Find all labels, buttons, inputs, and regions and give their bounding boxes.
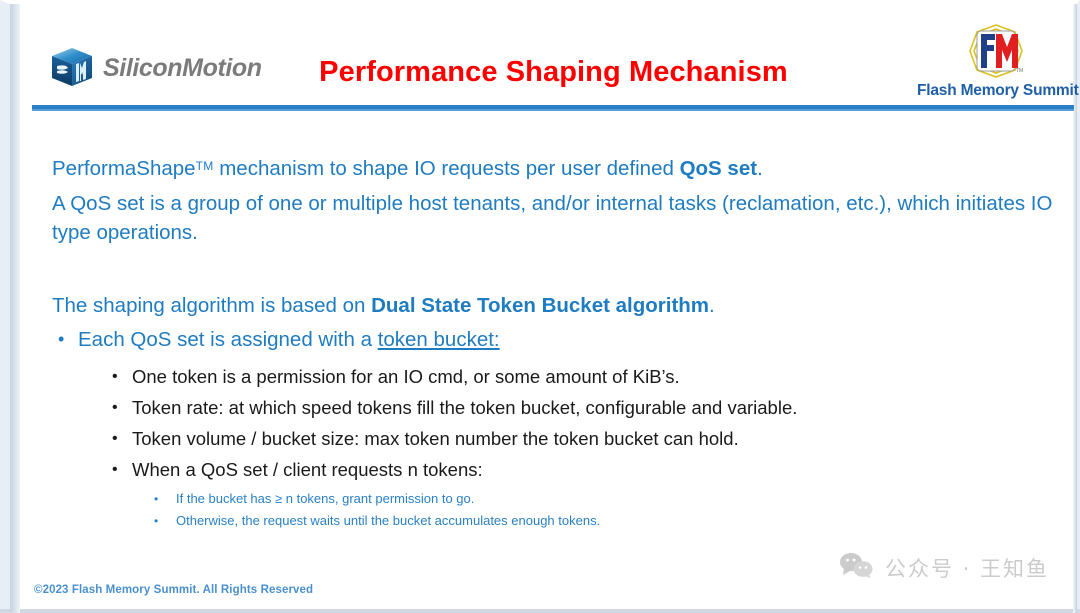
svg-text:TM: TM (1016, 68, 1023, 74)
list-item: • Otherwise, the request waits until the… (152, 510, 1062, 532)
bullet1-before: Each QoS set is assigned with a (78, 328, 378, 351)
slide-header: SiliconMotion Performance Shaping Mechan… (20, 8, 1080, 106)
para3-before: The shaping algorithm is based on (52, 294, 371, 317)
sub-sub-bullet-text: If the bucket has ≥ n tokens, grant perm… (176, 491, 474, 506)
wechat-watermark: 公众号 · 王知鱼 (839, 552, 1049, 583)
sub-bullet-text: One token is a permission for an IO cmd,… (132, 366, 680, 387)
para1-middle: mechanism to shape IO requests per user … (214, 157, 680, 180)
copyright-notice: ©2023 Flash Memory Summit. All Rights Re… (34, 584, 313, 596)
body-spacer (52, 247, 1062, 291)
flash-memory-summit-fm-logo-icon: TM (951, 22, 1041, 80)
list-item: • Token volume / bucket size: max token … (110, 423, 1062, 454)
list-item: • When a QoS set / client requests n tok… (110, 454, 1062, 485)
sub-sub-bullet-list: • If the bucket has ≥ n tokens, grant pe… (110, 488, 1062, 532)
bullet-marker-icon: • (112, 361, 118, 392)
bullet-each-qos-set: • Each QoS set is assigned with a token … (52, 325, 1062, 354)
para1-after: . (757, 157, 763, 180)
para3-bold-dual-state-token-bucket: Dual State Token Bucket algorithm (371, 294, 709, 317)
list-item: • One token is a permission for an IO cm… (110, 361, 1062, 392)
bullet-marker-icon: • (154, 488, 158, 510)
bullet-marker-icon: • (112, 392, 118, 423)
paragraph-shaping-algorithm: The shaping algorithm is based on Dual S… (52, 291, 1062, 320)
header-divider-secondary (32, 109, 1074, 111)
paragraph-performashape: PerformaShapeTM mechanism to shape IO re… (52, 152, 1062, 183)
flash-memory-summit-logo: TM Flash Memory Summit (917, 22, 1075, 102)
paragraph-qos-set-definition: A QoS set is a group of one or multiple … (52, 189, 1062, 247)
para3-after: . (709, 294, 715, 317)
bullet-marker-icon: • (112, 423, 118, 454)
slide-body: PerformaShapeTM mechanism to shape IO re… (52, 152, 1062, 532)
bullet1-underlined-token-bucket: token bucket: (378, 328, 500, 351)
trademark-symbol: TM (196, 159, 214, 173)
bullet-marker-icon: • (58, 325, 64, 354)
bullet-marker-icon: • (112, 454, 118, 485)
bullet-marker-icon: • (154, 510, 158, 532)
sub-bullet-text: Token rate: at which speed tokens fill t… (132, 397, 797, 418)
list-item: • If the bucket has ≥ n tokens, grant pe… (152, 488, 1062, 510)
list-item: • Token rate: at which speed tokens fill… (110, 392, 1062, 423)
slide-left-edge (10, 4, 20, 613)
sub-bullet-list: • One token is a permission for an IO cm… (52, 361, 1062, 532)
sub-bullet-text: When a QoS set / client requests n token… (132, 459, 483, 480)
flash-memory-summit-caption: Flash Memory Summit (917, 82, 1075, 100)
sub-bullet-text: Token volume / bucket size: max token nu… (132, 428, 739, 449)
para1-bold-qos-set: QoS set (680, 157, 757, 180)
watermark-text: 公众号 · 王知鱼 (885, 553, 1049, 583)
wechat-icon (839, 552, 873, 583)
sub-sub-bullet-text: Otherwise, the request waits until the b… (176, 513, 600, 528)
slide-canvas: SiliconMotion Performance Shaping Mechan… (0, 0, 1080, 609)
para1-before: PerformaShape (52, 157, 196, 180)
